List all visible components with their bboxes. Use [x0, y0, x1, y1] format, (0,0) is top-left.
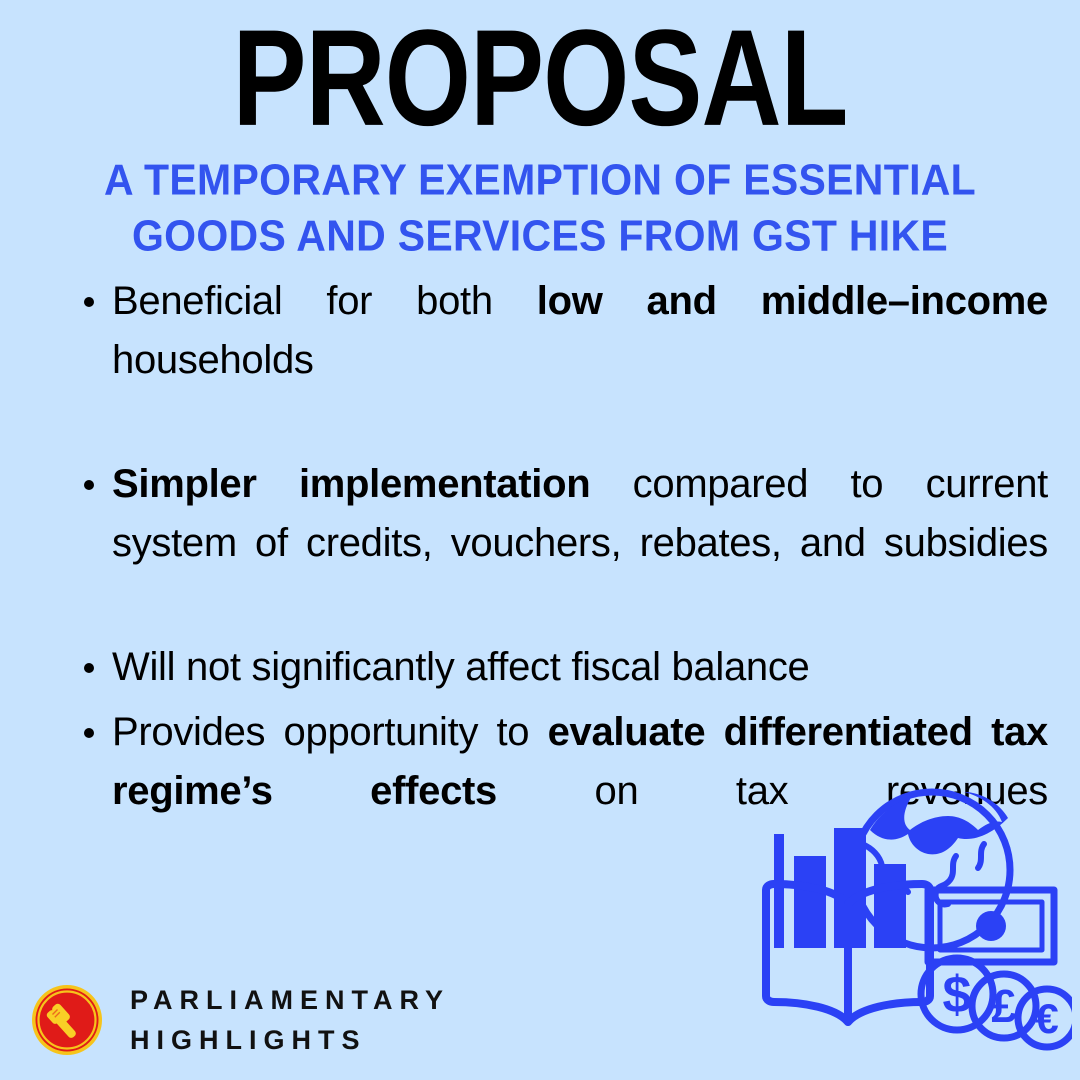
bullet-2-text: Simpler implementation compared to curre…: [112, 462, 1048, 624]
bullet-marker: [84, 663, 94, 673]
page-subtitle: A TEMPORARY EXEMPTION OF ESSENTIAL GOODS…: [40, 152, 1040, 264]
bullet-marker: [84, 480, 94, 490]
banknote-icon: [928, 890, 1054, 962]
bullet-marker: [84, 728, 94, 738]
euro-symbol: €: [1035, 995, 1058, 1042]
pound-symbol: £: [991, 980, 1017, 1032]
list-item: Will not significantly affect fiscal bal…: [70, 638, 1048, 697]
brand-line-1: PARLIAMENTARY: [130, 980, 450, 1020]
list-item: Beneficial for both low and middle–incom…: [70, 272, 1048, 449]
brand-name: PARLIAMENTARY HIGHLIGHTS: [130, 980, 450, 1060]
page-title: PROPOSAL: [32, 10, 1047, 147]
brand-footer: PARLIAMENTARY HIGHLIGHTS: [30, 980, 450, 1060]
dollar-symbol: $: [943, 966, 972, 1024]
bullet-3-text: Will not significantly affect fiscal bal…: [112, 645, 810, 689]
poster-canvas: PROPOSAL A TEMPORARY EXEMPTION OF ESSENT…: [0, 0, 1080, 1080]
bullet-marker: [84, 297, 94, 307]
economy-globe-finance-illustration: $ £ €: [752, 772, 1072, 1072]
gavel-icon: [30, 983, 104, 1057]
list-item: Simpler implementation compared to curre…: [70, 455, 1048, 632]
brand-line-2: HIGHLIGHTS: [130, 1020, 450, 1060]
bullet-1-text: Beneficial for both low and middle–incom…: [112, 279, 1048, 441]
